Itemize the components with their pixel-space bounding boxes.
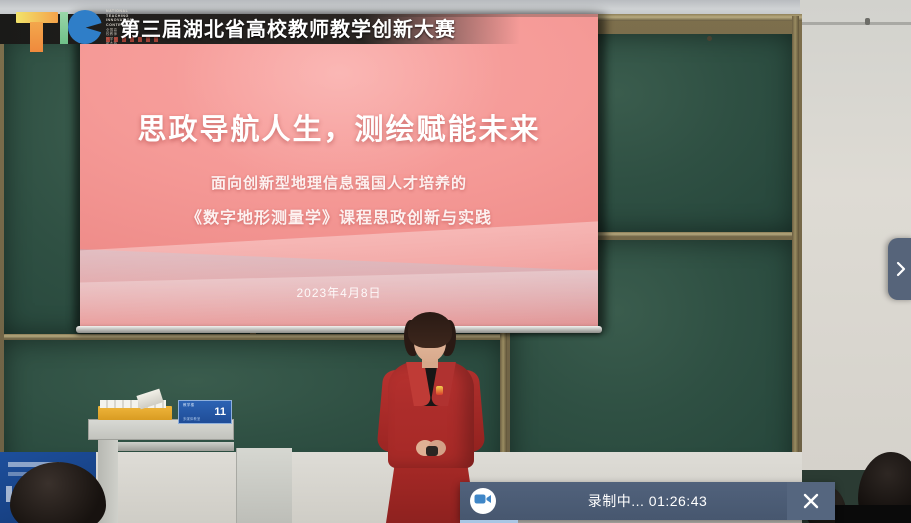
logo-letter-t-icon (16, 12, 58, 44)
bottom-black-strip (835, 505, 911, 523)
close-icon (802, 492, 820, 510)
chevron-right-icon (895, 261, 907, 277)
screen-weight-bar (76, 326, 602, 333)
slide-subtitle-line2: 《数字地形测量学》课程思政创新与实践 (80, 204, 598, 228)
recording-close-button[interactable] (787, 482, 835, 520)
podium-rail (118, 442, 234, 451)
room-sign-bottom-text: 多媒体教室 (183, 416, 200, 421)
room-sign-number: 11 (214, 406, 226, 418)
tic-logo: NATIONALTEACHINGINNOVATIONCONTEST 全国高校教师… (14, 4, 118, 44)
frame-screw (707, 36, 712, 41)
presenter-lapel-pin (436, 386, 443, 395)
rail-knob (865, 18, 870, 25)
banner-title: 第三届湖北省高校教师教学创新大赛 (120, 16, 456, 44)
screenshot-root: 思政导航人生，测绘赋能未来 面向创新型地理信息强国人才培养的 《数字地形测量学》… (0, 0, 911, 523)
curtain-rail (802, 22, 911, 25)
slide-date: 2023年4月8日 (80, 284, 598, 301)
logo-letter-c-icon (68, 10, 102, 44)
room-number-sign: 教学楼 11 多媒体教室 (178, 400, 232, 424)
slide-subtitle-line1: 面向创新型地理信息强国人才培养的 (80, 172, 598, 193)
chalk-tray (98, 406, 172, 420)
room-sign-top-text: 教学楼 (183, 403, 194, 408)
right-wall (800, 0, 911, 470)
recording-status-text: 录制中... 01:26:43 (460, 482, 835, 520)
panel-expand-tab[interactable] (888, 238, 911, 300)
board-post-right (792, 16, 799, 464)
presenter-hair (408, 312, 452, 348)
projection-screen: 思政导航人生，测绘赋能未来 面向创新型地理信息强国人才培养的 《数字地形测量学》… (80, 14, 598, 326)
logo-letter-i-icon (60, 12, 68, 44)
wall-cabinet (236, 448, 292, 523)
presenter-remote (426, 446, 438, 456)
recording-toolbar[interactable]: 录制中... 01:26:43 (460, 482, 835, 520)
slide-title: 思政导航人生，测绘赋能未来 (80, 106, 598, 148)
